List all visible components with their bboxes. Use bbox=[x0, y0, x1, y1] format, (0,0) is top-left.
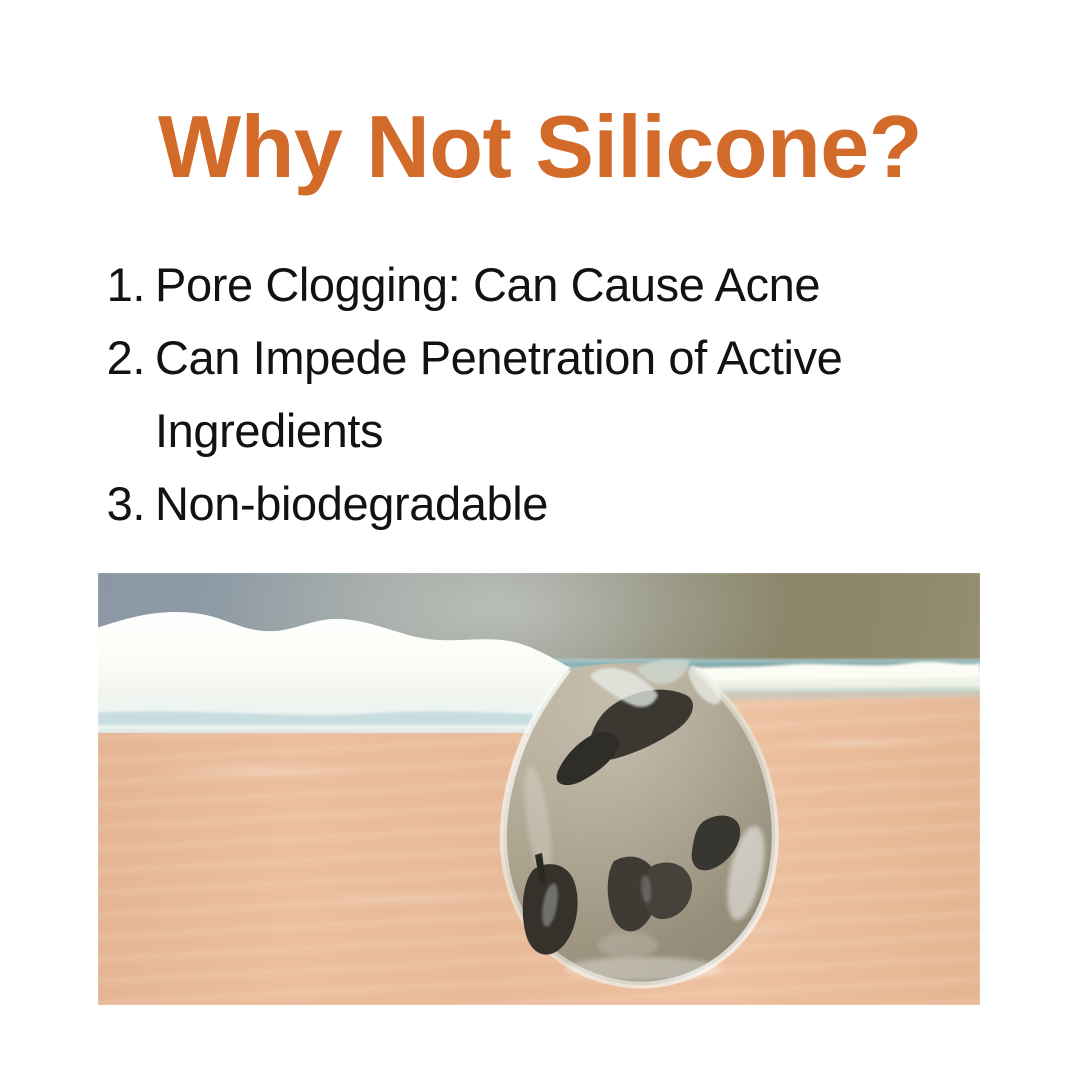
poster-root: Why Not Silicone? 1. Pore Clogging: Can … bbox=[0, 0, 1080, 1080]
list-item-label: Can Impede Penetration of Active Ingredi… bbox=[155, 321, 985, 467]
page-title: Why Not Silicone? bbox=[0, 103, 1080, 191]
list-item-number: 3. bbox=[98, 467, 155, 540]
list-item: 3. Non-biodegradable bbox=[98, 467, 998, 540]
list-item-number: 1. bbox=[98, 248, 155, 321]
list-item-label: Non-biodegradable bbox=[155, 467, 985, 540]
skin-cross-section-image bbox=[98, 573, 980, 1005]
list-item: 2. Can Impede Penetration of Active Ingr… bbox=[98, 321, 998, 467]
clogged-pore bbox=[503, 663, 775, 985]
pore-and-film-graphic bbox=[98, 573, 980, 1005]
list-item: 1. Pore Clogging: Can Cause Acne bbox=[98, 248, 998, 321]
list-item-label: Pore Clogging: Can Cause Acne bbox=[155, 248, 985, 321]
reasons-list: 1. Pore Clogging: Can Cause Acne 2. Can … bbox=[98, 248, 998, 540]
list-item-number: 2. bbox=[98, 321, 155, 394]
